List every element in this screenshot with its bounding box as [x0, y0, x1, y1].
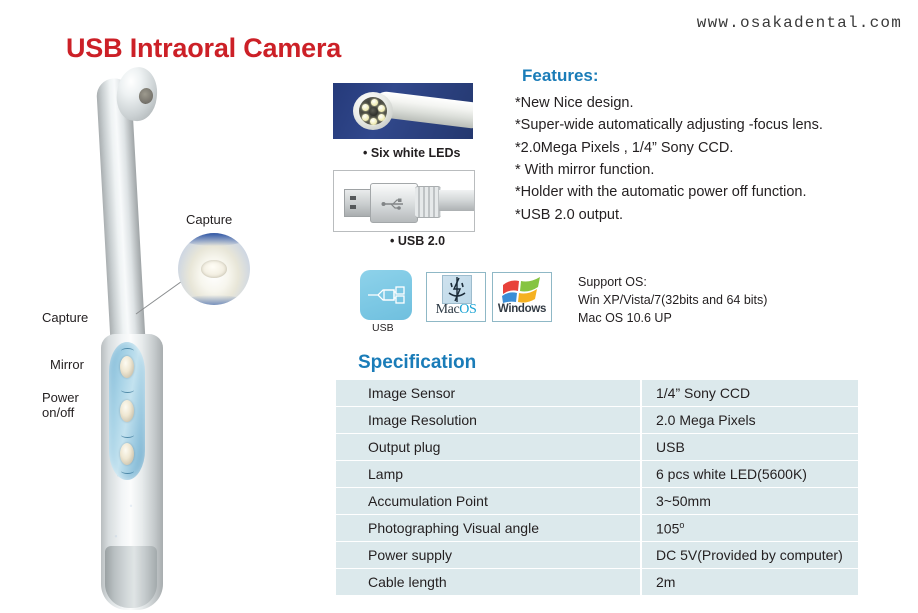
support-os-line: Win XP/Vista/7(32bits and 64 bits) — [578, 292, 767, 310]
table-row: Lamp 6 pcs white LED(5600K) — [336, 461, 858, 487]
caption-usb-20: • USB 2.0 — [390, 234, 445, 248]
spec-value: 1/4” Sony CCD — [642, 380, 858, 406]
led-dot — [370, 118, 377, 125]
feature-item: * With mirror function. — [515, 159, 915, 181]
support-os-line: Mac OS 10.6 UP — [578, 310, 767, 328]
usb-trident-icon — [381, 198, 407, 210]
mac-word: Mac — [436, 302, 460, 317]
features-list: *New Nice design. *Super-wide automatica… — [515, 92, 915, 226]
spec-key: Photographing Visual angle — [336, 515, 642, 541]
feature-item: *New Nice design. — [515, 92, 915, 114]
spec-value-angle: 105o — [642, 515, 858, 541]
table-row: Image Resolution 2.0 Mega Pixels — [336, 407, 858, 433]
capture-button-physical — [120, 356, 134, 378]
specification-table: Image Sensor 1/4” Sony CCD Image Resolut… — [336, 379, 858, 596]
usb-strain-relief — [415, 186, 441, 218]
table-row: Output plug USB — [336, 434, 858, 460]
led-dot — [378, 105, 385, 112]
led-detail-photo — [333, 83, 473, 139]
led-dot — [371, 99, 378, 106]
panel-mark-mirror — [121, 432, 134, 438]
capture-button-callout — [178, 233, 250, 305]
table-row: Image Sensor 1/4” Sony CCD — [336, 380, 858, 406]
spec-value: 2m — [642, 569, 858, 595]
spec-value: USB — [642, 434, 858, 460]
angle-number: 105 — [656, 520, 679, 536]
panel-mark-power — [121, 468, 134, 474]
degree-symbol: o — [679, 520, 684, 530]
label-mirror: Mirror — [50, 357, 84, 372]
table-row: Accumulation Point 3~50mm — [336, 488, 858, 514]
windows-logo: Windows — [492, 272, 552, 322]
label-power-onoff: Poweron/off — [42, 390, 79, 421]
usb-pin — [350, 196, 356, 200]
macos-logo-text: MacOS — [429, 302, 483, 318]
spec-key: Lamp — [336, 461, 642, 487]
support-os-text: Support OS: Win XP/Vista/7(32bits and 64… — [578, 274, 767, 327]
led-center-lens — [369, 107, 378, 116]
windows-logo-text: Windows — [493, 303, 551, 315]
feature-item: *Holder with the automatic power off fun… — [515, 181, 915, 203]
feature-item: *Super-wide automatically adjusting -foc… — [515, 114, 915, 136]
camera-product-photo — [95, 66, 205, 606]
site-watermark: www.osakadental.com — [697, 14, 902, 32]
table-row: Photographing Visual angle 105o — [336, 515, 858, 541]
panel-mark-top — [121, 348, 134, 354]
usb-pin — [350, 205, 356, 209]
spec-key: Accumulation Point — [336, 488, 642, 514]
product-spec-sheet: www.osakadental.com USB Intraoral Camera… — [0, 0, 918, 613]
usb-plug-housing — [370, 183, 418, 223]
page-title: USB Intraoral Camera — [66, 33, 341, 64]
spec-key: Image Sensor — [336, 380, 642, 406]
usb-detail-photo — [333, 170, 475, 232]
spec-key: Output plug — [336, 434, 642, 460]
specification-heading: Specification — [358, 352, 476, 374]
power-button-physical — [120, 443, 134, 465]
usb-badge-icon — [360, 270, 412, 320]
os-word: OS — [459, 302, 476, 317]
callout-button-closeup — [201, 260, 227, 278]
label-capture: Capture — [42, 310, 88, 325]
feature-item: *2.0Mega Pixels , 1/4” Sony CCD. — [515, 137, 915, 159]
macos-logo: MacOS — [426, 272, 486, 322]
camera-button-panel — [109, 342, 145, 480]
feature-item: *USB 2.0 output. — [515, 204, 915, 226]
table-row: Power supply DC 5V(Provided by computer) — [336, 542, 858, 568]
support-os-line: Support OS: — [578, 274, 767, 292]
mac-finder-face-icon — [442, 275, 472, 304]
spec-key: Image Resolution — [336, 407, 642, 433]
spec-value: 2.0 Mega Pixels — [642, 407, 858, 433]
spec-value: 3~50mm — [642, 488, 858, 514]
windows-flag-icon — [500, 275, 544, 303]
panel-mark-capture — [121, 387, 134, 393]
spec-value: 6 pcs white LED(5600K) — [642, 461, 858, 487]
usb-icon-label: USB — [372, 322, 394, 334]
led-dot — [362, 104, 369, 111]
spec-key: Cable length — [336, 569, 642, 595]
usb-cable — [439, 190, 475, 211]
mirror-button-physical — [120, 400, 134, 422]
spec-key: Power supply — [336, 542, 642, 568]
caption-six-white-leds: • Six white LEDs — [363, 146, 460, 160]
led-dot — [362, 114, 369, 121]
callout-label: Capture — [186, 212, 232, 227]
spec-value: DC 5V(Provided by computer) — [642, 542, 858, 568]
led-dot — [378, 114, 385, 121]
camera-handle-base — [105, 546, 157, 608]
features-heading: Features: — [522, 66, 599, 86]
table-row: Cable length 2m — [336, 569, 858, 595]
